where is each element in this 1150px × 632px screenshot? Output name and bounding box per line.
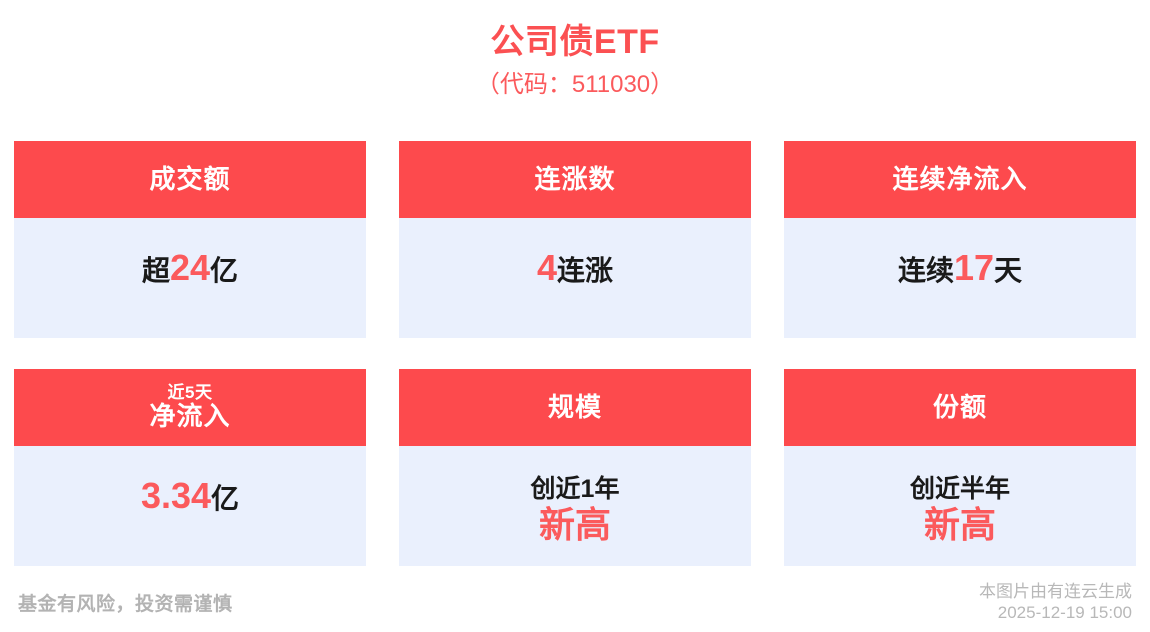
attribution-source: 本图片由有连云生成 [979,581,1132,602]
metric-value-part: 连续 [898,255,954,286]
metric-value-line: 新高 [539,505,611,545]
metric-card: 成交额超24亿 [14,141,366,338]
metric-card-body: 超24亿 [14,218,366,338]
metric-card-grid: 成交额超24亿连涨数4连涨连续净流入连续17天近5天净流入3.34亿规模创近1年… [14,141,1136,566]
metric-card-header: 连续净流入 [784,141,1136,218]
metric-card-header-subtitle: 近5天 [168,383,213,402]
metric-value-part: 亿 [210,255,238,286]
metric-value-part: 连涨 [557,255,613,286]
metric-value-part: 新高 [539,504,611,545]
page-footer: 基金有风险，投资需谨慎 本图片由有连云生成 2025-12-19 15:00 [0,572,1150,632]
metric-card: 连涨数4连涨 [399,141,751,338]
metric-value-line: 创近1年 [531,476,620,504]
metric-card-header-title: 连续净流入 [892,165,1027,194]
metric-card-header-title: 成交额 [149,165,230,194]
risk-disclaimer: 基金有风险，投资需谨慎 [18,589,233,616]
metric-value-line: 4连涨 [537,248,613,288]
page-title: 公司债ETF [0,22,1150,62]
metric-card: 规模创近1年新高 [399,369,751,566]
metric-card-header: 近5天净流入 [14,369,366,446]
metric-value-part: 创近1年 [531,475,620,503]
metric-value-part: 3.34 [141,475,211,516]
metric-card-body: 4连涨 [399,218,751,338]
metric-value-line: 3.34亿 [141,476,239,516]
metric-value-part: 4 [537,247,557,288]
metric-card-header-title: 连涨数 [534,165,615,194]
metric-value-part: 17 [954,247,994,288]
metric-value-line: 超24亿 [142,248,238,288]
metric-card-header: 规模 [399,369,751,446]
metric-card-body: 创近半年新高 [784,446,1136,566]
metric-card-header: 成交额 [14,141,366,218]
fund-code-subtitle: （代码：511030） [0,68,1150,102]
page-title-block: 公司债ETF （代码：511030） [0,0,1150,102]
attribution-timestamp: 2025-12-19 15:00 [979,602,1132,623]
metric-value-line: 新高 [924,505,996,545]
attribution-block: 本图片由有连云生成 2025-12-19 15:00 [979,581,1132,624]
metric-value-part: 新高 [924,504,996,545]
metric-card: 连续净流入连续17天 [784,141,1136,338]
metric-card: 份额创近半年新高 [784,369,1136,566]
metric-card: 近5天净流入3.34亿 [14,369,366,566]
metric-value-line: 创近半年 [910,476,1010,504]
metric-value-line: 连续17天 [898,248,1022,288]
metric-value-part: 24 [170,247,210,288]
metric-card-header: 份额 [784,369,1136,446]
metric-card-body: 连续17天 [784,218,1136,338]
metric-card-body: 3.34亿 [14,446,366,566]
metric-card-body: 创近1年新高 [399,446,751,566]
metric-card-header: 连涨数 [399,141,751,218]
metric-value-part: 创近半年 [910,475,1010,503]
metric-card-header-title: 规模 [548,393,602,422]
metric-card-header-title: 净流入 [149,402,230,431]
metric-card-header-title: 份额 [933,393,987,422]
metric-value-part: 亿 [211,483,239,514]
metric-value-part: 超 [142,255,170,286]
etf-summary-page: 公司债ETF （代码：511030） 成交额超24亿连涨数4连涨连续净流入连续1… [0,0,1150,632]
metric-value-part: 天 [994,255,1022,286]
